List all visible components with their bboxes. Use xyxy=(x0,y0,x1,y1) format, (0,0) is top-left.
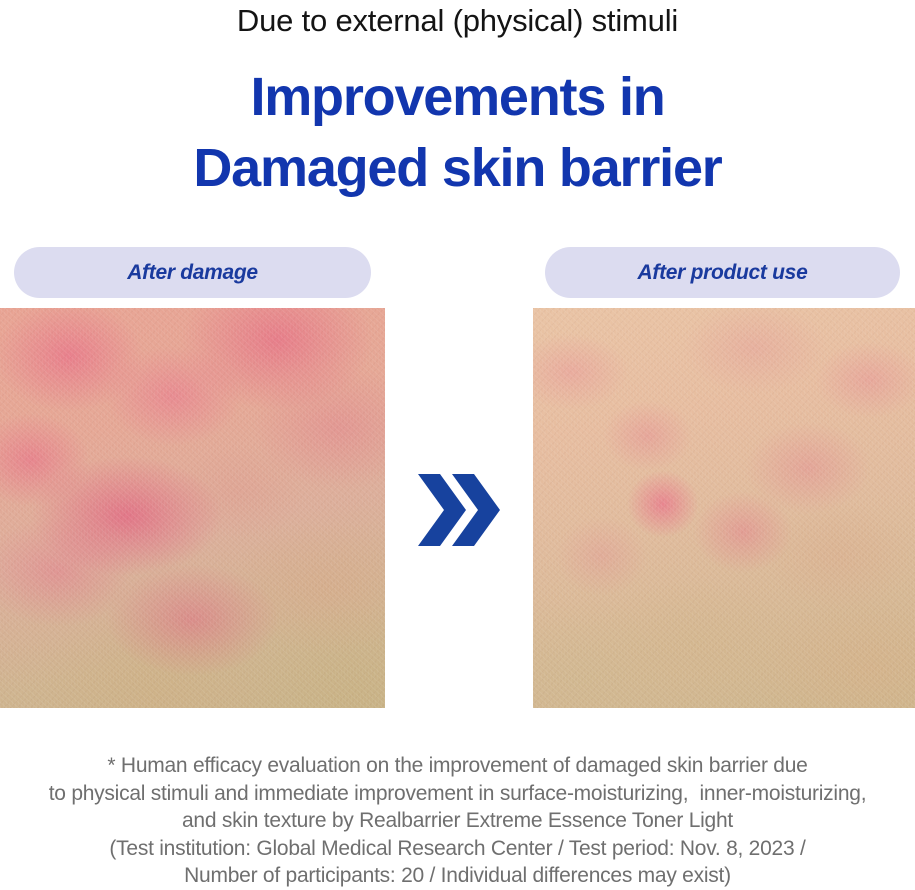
after-label-pill: After product use xyxy=(545,247,900,298)
before-skin-texture xyxy=(0,308,385,708)
page-title-line-2: Damaged skin barrier xyxy=(0,133,915,204)
footnote-line-1: * Human efficacy evaluation on the impro… xyxy=(0,752,915,780)
footnote-line-3: and skin texture by Realbarrier Extreme … xyxy=(0,807,915,835)
before-label-text: After damage xyxy=(127,261,258,285)
after-skin-texture xyxy=(533,308,915,708)
after-label-text: After product use xyxy=(638,261,808,285)
page-title: Improvements in Damaged skin barrier xyxy=(0,62,915,204)
page-title-line-1: Improvements in xyxy=(0,62,915,133)
footnote-line-2: to physical stimuli and immediate improv… xyxy=(0,780,915,808)
after-skin-photo xyxy=(533,308,915,708)
before-label-pill: After damage xyxy=(14,247,371,298)
kicker-text: Due to external (physical) stimuli xyxy=(0,1,915,41)
footnote: * Human efficacy evaluation on the impro… xyxy=(0,752,915,890)
footnote-line-4: (Test institution: Global Medical Resear… xyxy=(0,835,915,863)
before-skin-photo xyxy=(0,308,385,708)
double-chevron-right-icon xyxy=(414,468,502,552)
footnote-line-5: Number of participants: 20 / Individual … xyxy=(0,862,915,890)
